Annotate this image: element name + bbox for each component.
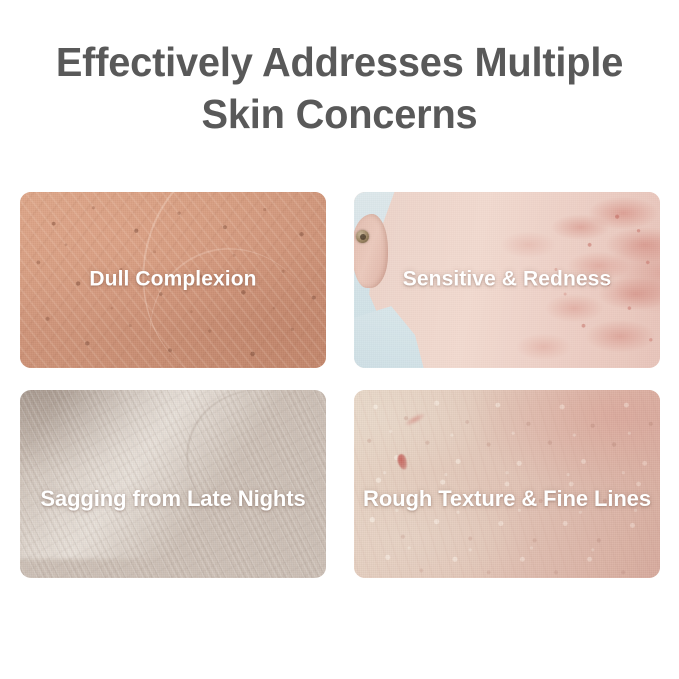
concern-label-sensitive-redness: Sensitive & Redness (354, 268, 660, 292)
photo-grain-overlay (354, 390, 660, 578)
concern-label-dull-complexion: Dull Complexion (20, 268, 326, 292)
concern-label-rough-texture-fine-lines: Rough Texture & Fine Lines (354, 486, 660, 512)
concern-tile-sagging-late-nights[interactable]: Sagging from Late Nights (20, 390, 326, 578)
concern-tile-sensitive-redness[interactable]: Sensitive & Redness (354, 192, 660, 368)
page-title: Effectively Addresses Multiple Skin Conc… (10, 36, 669, 140)
page-title-line-1: Effectively Addresses Multiple (10, 36, 669, 88)
concern-label-sagging-late-nights: Sagging from Late Nights (20, 486, 326, 512)
concern-tile-rough-texture-fine-lines[interactable]: Rough Texture & Fine Lines (354, 390, 660, 578)
concern-tile-dull-complexion[interactable]: Dull Complexion (20, 192, 326, 368)
skin-concerns-poster: Effectively Addresses Multiple Skin Conc… (0, 0, 679, 679)
photo-grain-overlay (20, 390, 326, 578)
concern-tile-grid: Dull Complexion Sensitive & Redness Sagg… (20, 192, 660, 578)
page-title-line-2: Skin Concerns (10, 88, 669, 140)
